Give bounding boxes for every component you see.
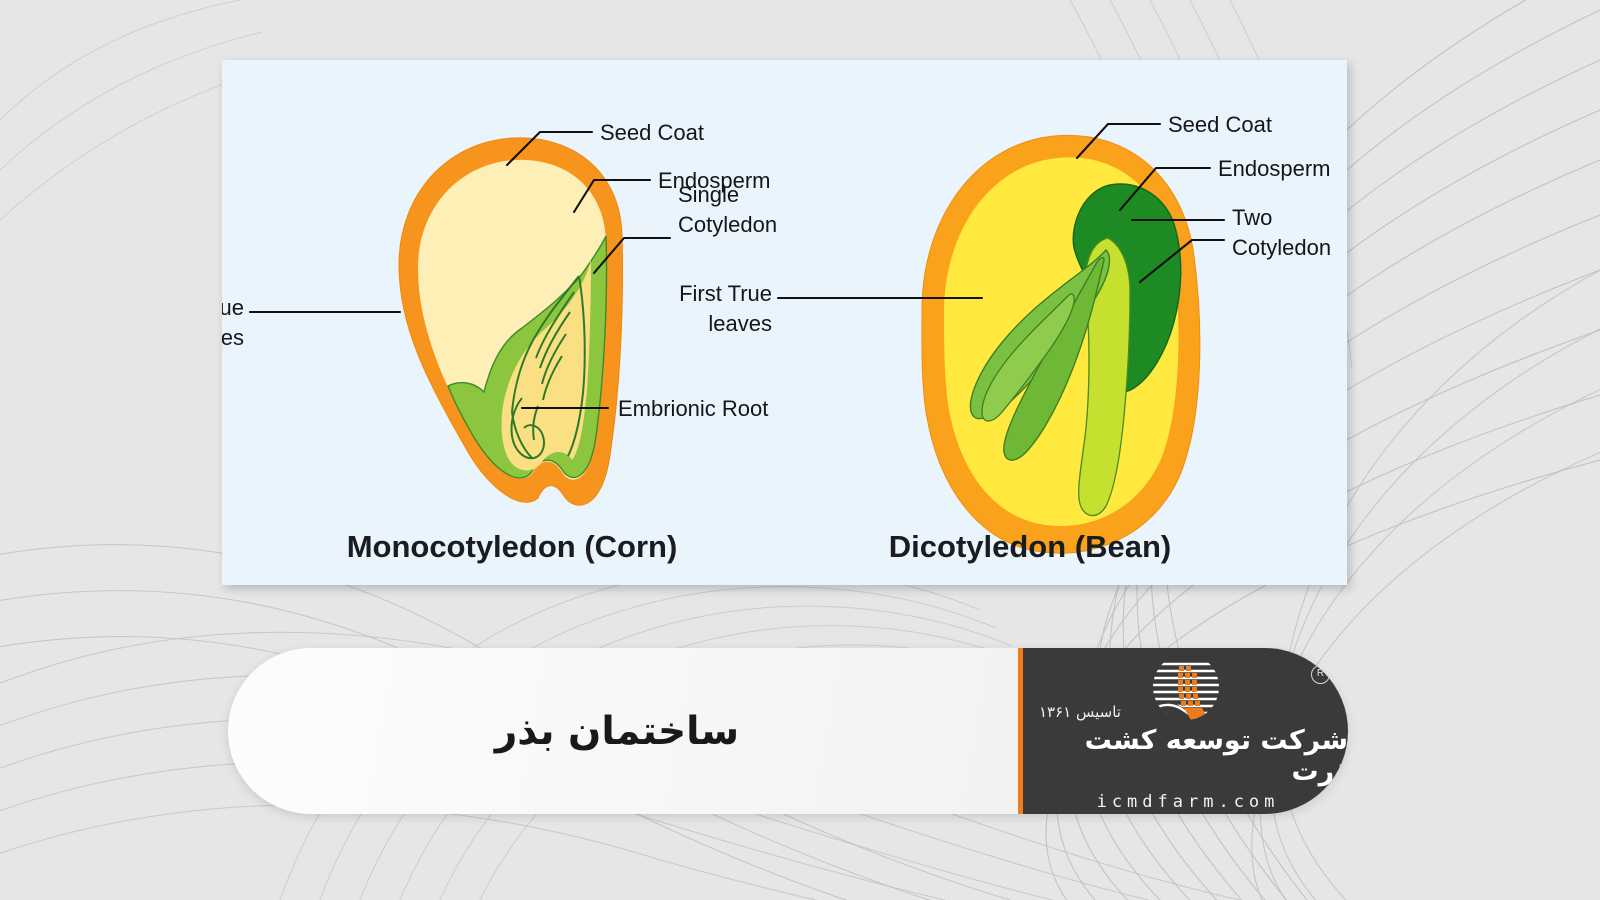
page-title: ساختمان بذر [495,709,751,754]
monocot-caption: Monocotyledon (Corn) [347,529,678,564]
established-year: تاسیس ۱۳۶۱ [1039,703,1121,721]
monocot-label-first-true-leaves-line2: leaves [222,325,244,350]
footer-title-zone: ساختمان بذر [228,648,1018,814]
monocot-label-single-cotyledon-line2: Cotyledon [678,212,777,237]
dicot-label-seed-coat: Seed Coat [1168,112,1272,137]
company-website: icmdfarm.com [1092,792,1280,812]
corn-globe-logo [1138,652,1234,726]
page-root: Seed Coat Endosperm Single Cotyledon Fir… [0,0,1600,900]
dicot-label-two-cotyledon-line1: Two [1232,205,1272,230]
dicot-label-first-true-leaves-line1: First True [679,281,772,306]
dicot-caption: Dicotyledon (Bean) [889,529,1171,564]
dicot-label-two-cotyledon-line2: Cotyledon [1232,235,1331,260]
dicot-label-endosperm: Endosperm [1218,156,1331,181]
monocot-label-single-cotyledon-line1: Single [678,182,739,207]
monocot-label-first-true-leaves-line1: First True [222,295,244,320]
monocot-label-seed-coat: Seed Coat [600,120,704,145]
footer-bar: ساختمان بذر تاسیس ۱۳۶۱ [228,648,1348,814]
brand-panel: تاسیس ۱۳۶۱ [1023,648,1348,814]
dicot-label-first-true-leaves-line2: leaves [708,311,772,336]
seed-diagram-panel: Seed Coat Endosperm Single Cotyledon Fir… [222,60,1347,585]
registered-trademark-icon: R [1311,665,1330,684]
company-name: شرکت توسعه کشت ذرت [1023,725,1348,787]
monocot-label-embrionic-root: Embrionic Root [618,396,768,421]
